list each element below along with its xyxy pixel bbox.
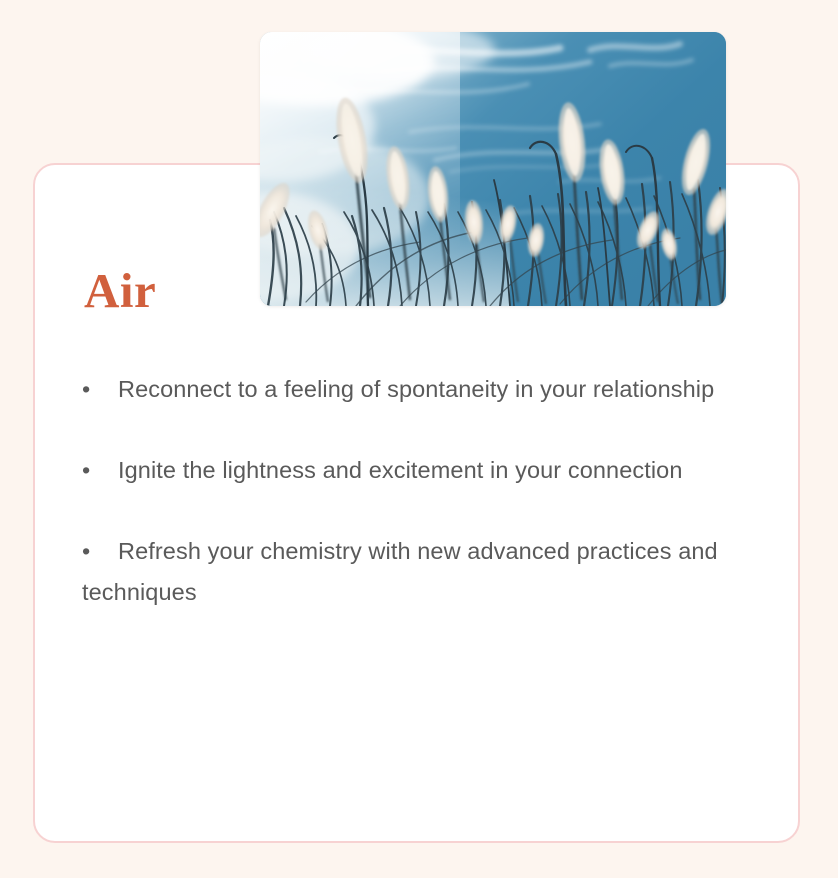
page-root: Air •Reconnect to a feeling of spontanei… <box>0 0 838 878</box>
bullet-point-icon: • <box>82 531 118 572</box>
list-item-text: Reconnect to a feeling of spontaneity in… <box>118 376 714 402</box>
list-item: •Reconnect to a feeling of spontaneity i… <box>82 369 782 410</box>
benefits-list: •Reconnect to a feeling of spontaneity i… <box>82 369 782 613</box>
list-item: •Ignite the lightness and excitement in … <box>82 450 782 491</box>
pampas-grass-sky-illustration <box>260 32 726 306</box>
list-item-text: Refresh your chemistry with new advanced… <box>82 538 718 605</box>
list-item-text: Ignite the lightness and excitement in y… <box>118 457 683 483</box>
bullet-point-icon: • <box>82 369 118 410</box>
list-item: •Refresh your chemistry with new advance… <box>82 531 782 613</box>
page-title: Air <box>84 265 156 317</box>
bullet-point-icon: • <box>82 450 118 491</box>
hero-image <box>260 32 726 306</box>
